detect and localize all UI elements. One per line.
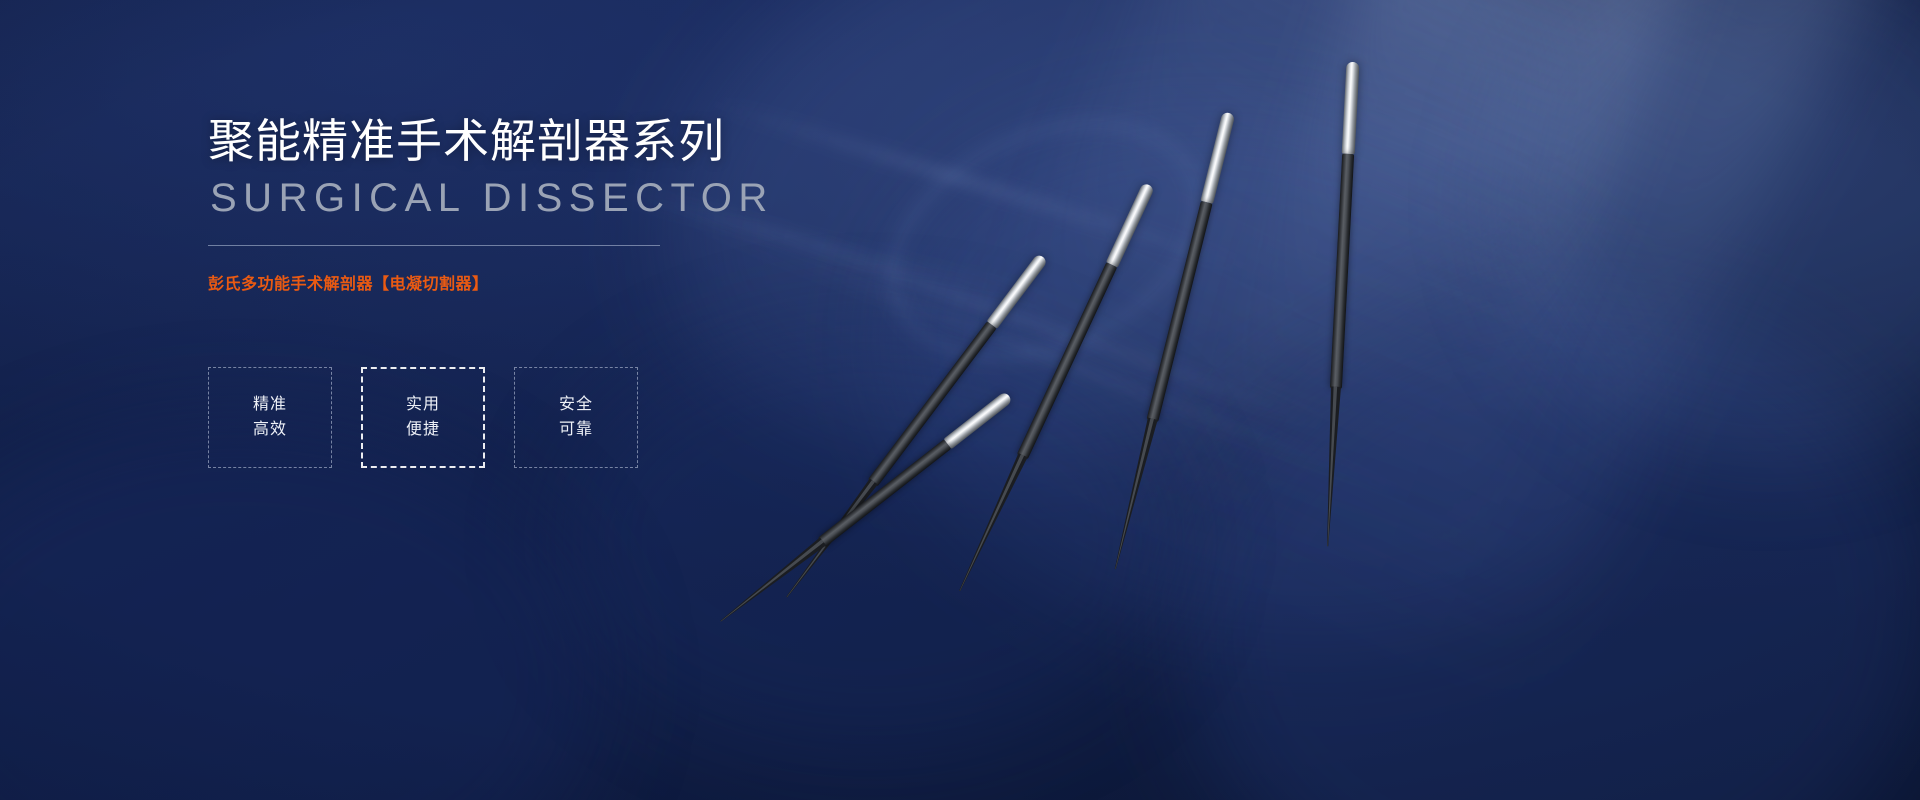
feature-box-safety[interactable]: 安全 可靠	[514, 367, 638, 468]
feature-label-line2: 高效	[253, 422, 287, 439]
feature-label-line1: 实用	[406, 397, 440, 414]
feature-label-line1: 安全	[559, 397, 593, 414]
page-subtitle-english: SURGICAL DISSECTOR	[210, 178, 774, 218]
feature-label-line2: 可靠	[559, 422, 593, 439]
feature-box-group: 精准 高效 实用 便捷 安全 可靠	[208, 367, 638, 468]
feature-label-line1: 精准	[253, 397, 287, 414]
banner-content: 聚能精准手术解剖器系列 SURGICAL DISSECTOR 彭氏多功能手术解剖…	[208, 0, 968, 800]
divider	[208, 245, 660, 246]
hero-banner: 聚能精准手术解剖器系列 SURGICAL DISSECTOR 彭氏多功能手术解剖…	[0, 0, 1920, 800]
feature-label-line2: 便捷	[406, 422, 440, 439]
page-title: 聚能精准手术解剖器系列	[208, 118, 725, 164]
feature-box-practical[interactable]: 实用 便捷	[361, 367, 485, 468]
product-name-highlight: 彭氏多功能手术解剖器【电凝切割器】	[208, 277, 489, 293]
feature-box-precision[interactable]: 精准 高效	[208, 367, 332, 468]
